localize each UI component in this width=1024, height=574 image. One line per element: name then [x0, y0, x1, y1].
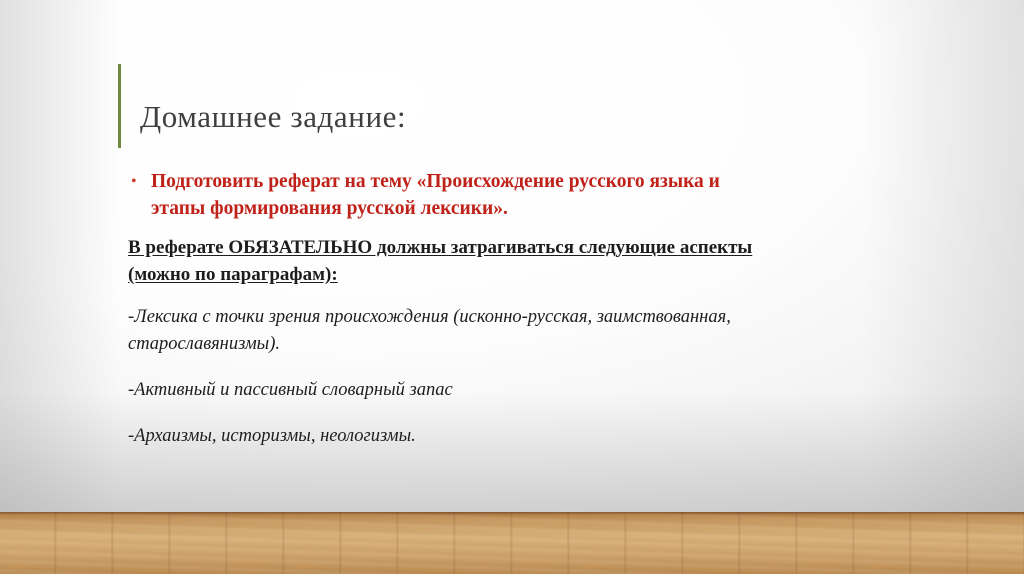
aspect-2: -Активный и пассивный словарный запас — [128, 377, 938, 404]
presentation-slide: Домашнее задание: • Подготовить реферат … — [0, 0, 1024, 574]
list-item: • Подготовить реферат на тему «Происхожд… — [128, 168, 938, 222]
assignment-task-line-1: Подготовить реферат на тему «Происхожден… — [151, 168, 720, 195]
aspect-1: -Лексика с точки зрения происхождения (и… — [128, 304, 938, 358]
wooden-floor — [0, 512, 1024, 574]
assignment-task-line-2: этапы формирования русской лексики». — [151, 195, 720, 222]
title-accent-bar — [118, 64, 121, 148]
requirement-note-line-1: В реферате ОБЯЗАТЕЛЬНО должны затрагиват… — [128, 234, 938, 261]
page-title: Домашнее задание: — [140, 99, 406, 135]
slide-body: • Подготовить реферат на тему «Происхожд… — [128, 168, 938, 450]
aspect-1-line-2: старославянизмы). — [128, 331, 938, 358]
requirement-note: В реферате ОБЯЗАТЕЛЬНО должны затрагиват… — [128, 234, 938, 288]
aspect-2-line-1: -Активный и пассивный словарный запас — [128, 377, 938, 404]
aspect-3-line-1: -Архаизмы, историзмы, неологизмы. — [128, 423, 938, 450]
floor-seam — [0, 512, 1024, 515]
assignment-task-text: Подготовить реферат на тему «Происхожден… — [151, 168, 720, 222]
aspect-3: -Архаизмы, историзмы, неологизмы. — [128, 423, 938, 450]
aspect-1-line-1: -Лексика с точки зрения происхождения (и… — [128, 304, 938, 331]
requirement-note-line-2: (можно по параграфам): — [128, 261, 938, 288]
bullet-marker-icon: • — [128, 168, 151, 196]
